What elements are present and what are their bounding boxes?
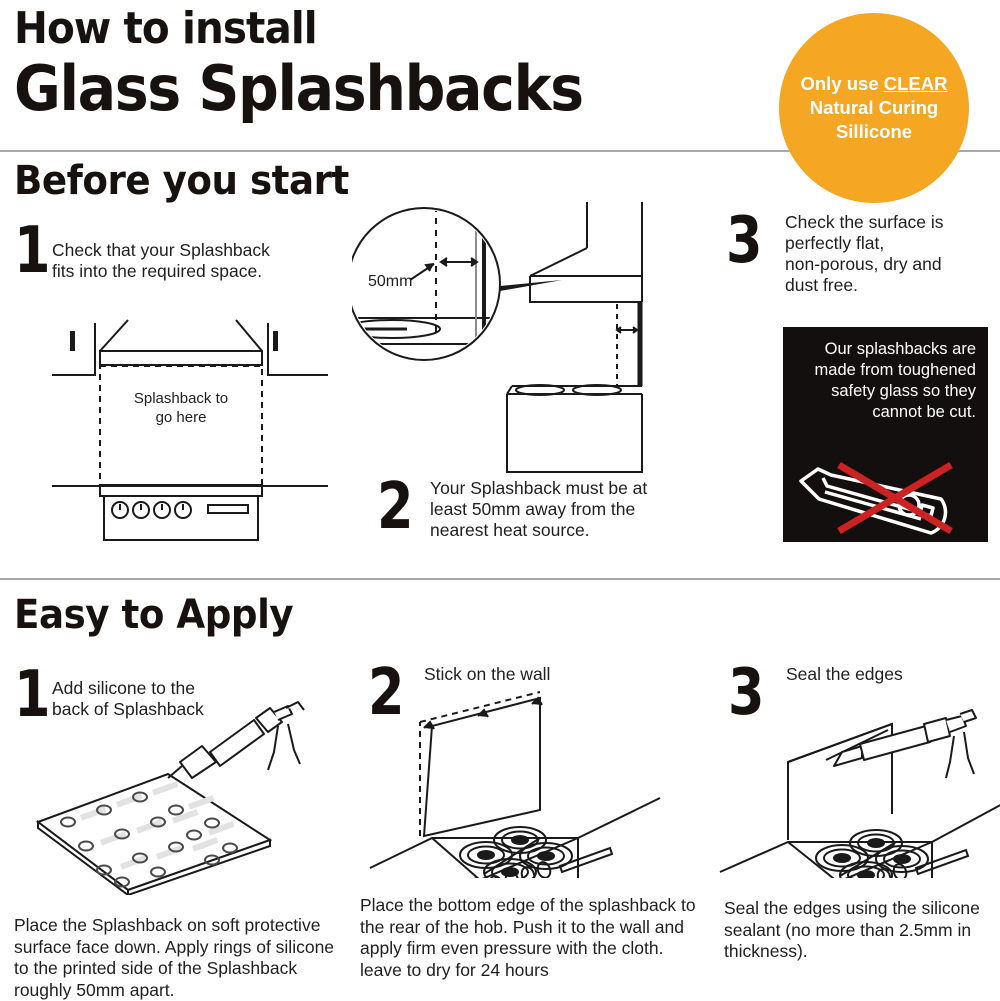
badge-line-1-emphasis: CLEAR xyxy=(884,73,948,94)
badge-line-2: Natural Curing xyxy=(810,97,938,118)
step-number-3-before: 3 xyxy=(726,212,763,270)
diagram-stick-on-wall xyxy=(360,688,680,878)
instruction-sheet: How to install Glass Splashbacks Only us… xyxy=(0,0,1000,1000)
section-title-before-you-start: Before you start xyxy=(14,158,349,204)
section-title-easy-to-apply: Easy to Apply xyxy=(14,592,293,638)
divider-middle xyxy=(0,578,1000,580)
knife-crossed-out-icon xyxy=(791,453,979,539)
diagram-label-splashback-here-line2: go here xyxy=(156,409,207,426)
step-text-1-before: Check that your Splashback fits into the… xyxy=(52,240,322,282)
step-text-3-before: Check the surface is perfectly flat, non… xyxy=(785,212,995,296)
step-number-2-before: 2 xyxy=(377,478,414,536)
clear-silicone-badge: Only use CLEAR Natural Curing Sillicone xyxy=(779,13,969,203)
title-line-2: Glass Splashbacks xyxy=(14,54,583,124)
badge-line-3: Sillicone xyxy=(836,121,912,142)
page-title: How to install Glass Splashbacks xyxy=(14,4,632,124)
diagram-50mm-clearance: 50mm xyxy=(352,198,692,478)
badge-line-1-prefix: Only use xyxy=(800,73,883,94)
warning-box-no-cutting: Our splashbacks are made from toughened … xyxy=(783,327,988,542)
step-text-3-apply: Seal the edges xyxy=(786,664,986,685)
diagram-seal-the-edges xyxy=(710,686,1000,878)
diagram-label-splashback-here-line1: Splashback to xyxy=(134,390,228,407)
step-number-1-before: 1 xyxy=(14,222,51,280)
caption-apply-step-1: Place the Splashback on soft protective … xyxy=(14,915,344,1001)
caption-apply-step-3: Seal the edges using the silicone sealan… xyxy=(724,898,986,963)
step-text-2-apply: Stick on the wall xyxy=(424,664,664,685)
caption-apply-step-2: Place the bottom edge of the splashback … xyxy=(360,895,700,981)
diagram-apply-silicone-rings xyxy=(20,700,330,895)
warning-box-text: Our splashbacks are made from toughened … xyxy=(783,327,988,423)
badge-text: Only use CLEAR Natural Curing Sillicone xyxy=(784,72,964,144)
diagram-splashback-space: Splashback to go here xyxy=(40,318,340,543)
title-line-1: How to install xyxy=(14,4,583,54)
step-text-2-before: Your Splashback must be at least 50mm aw… xyxy=(430,478,690,541)
diagram-label-50mm: 50mm xyxy=(368,273,412,290)
